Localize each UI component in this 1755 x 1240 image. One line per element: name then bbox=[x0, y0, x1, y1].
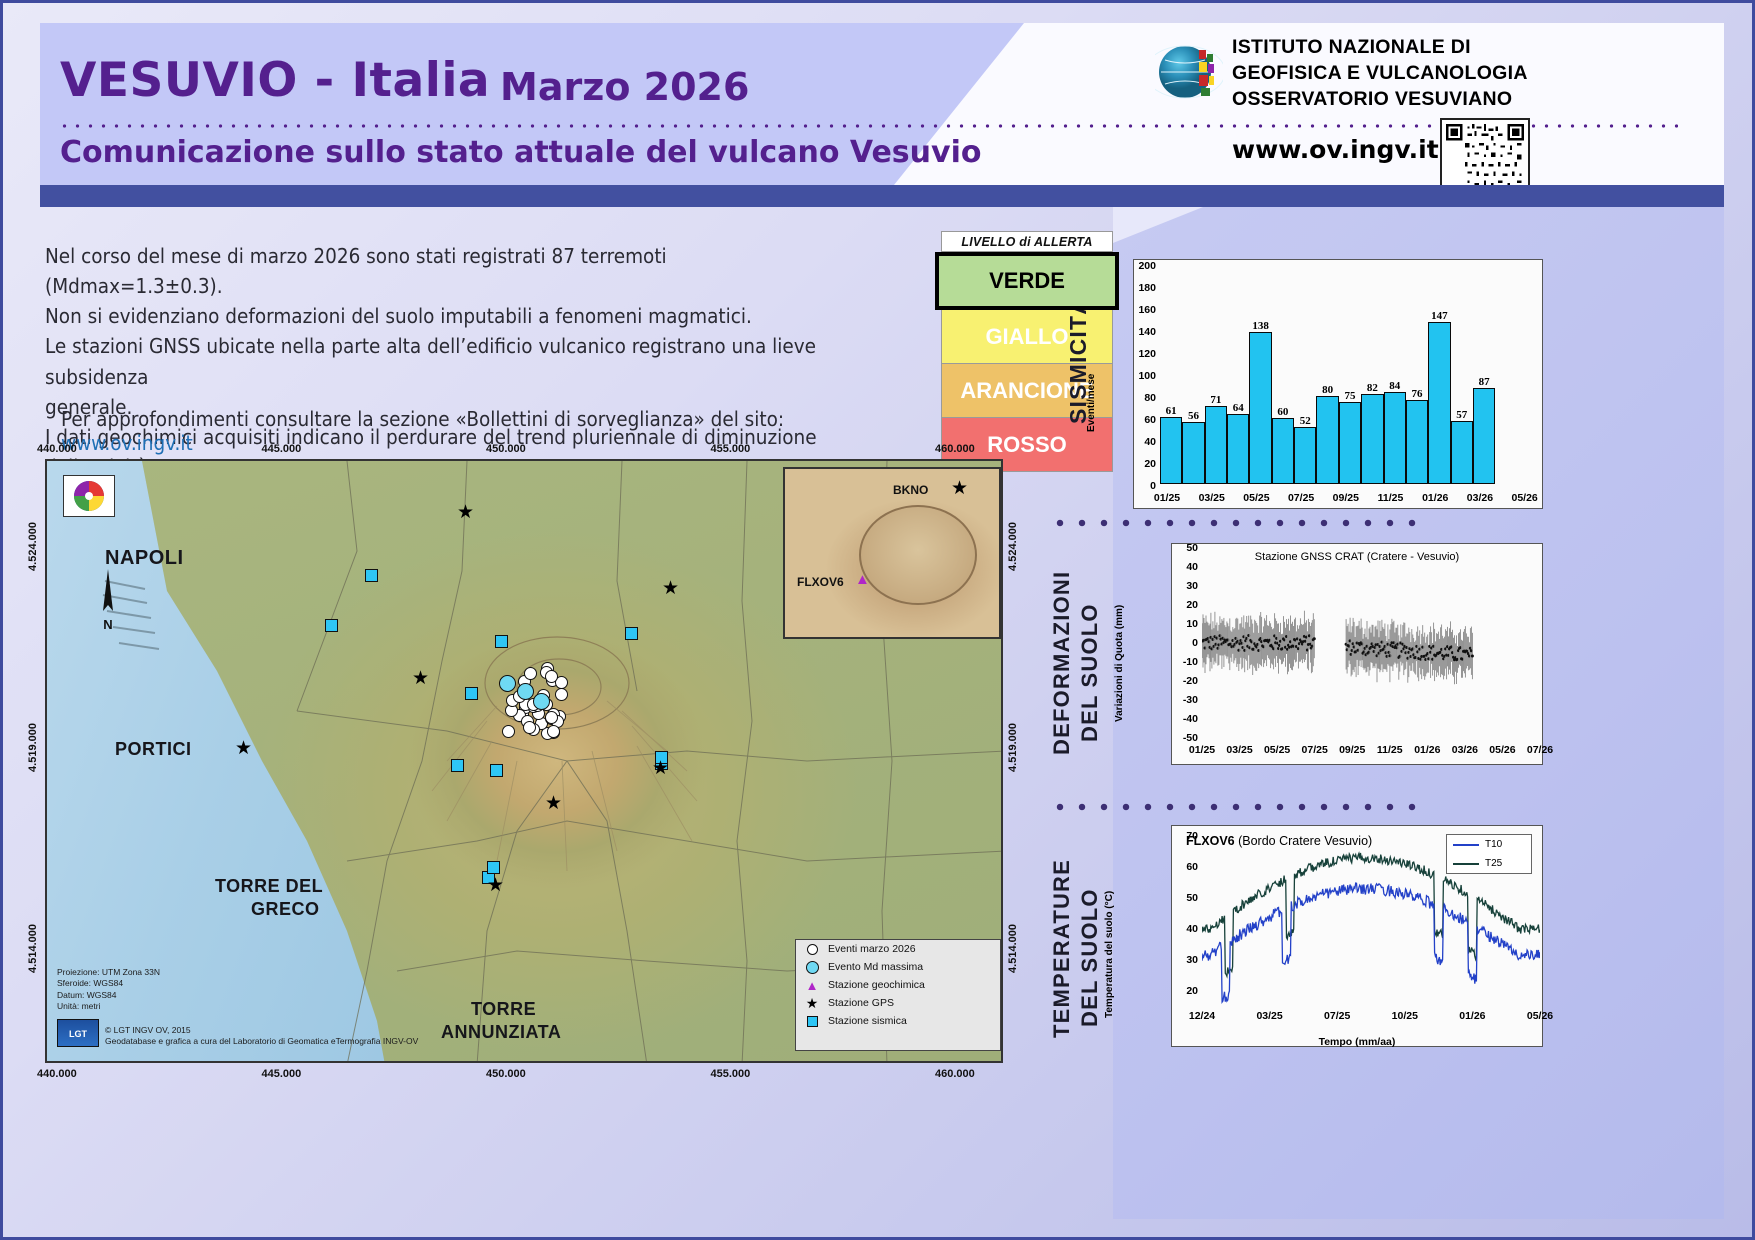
inset-label-flxov6: FLXOV6 bbox=[797, 575, 844, 589]
website-url[interactable]: www.ov.ingv.it bbox=[1232, 135, 1439, 164]
map-gps-station-icon: ★ bbox=[457, 503, 474, 522]
temperature-y-tick: 50 bbox=[1170, 892, 1198, 904]
square-cyan-icon bbox=[804, 1016, 820, 1027]
temperature-legend: T10T25 bbox=[1446, 834, 1532, 874]
seismicity-bar bbox=[1160, 417, 1182, 484]
institute-line-3: OSSERVATORIO VESUVIANO bbox=[1232, 87, 1528, 113]
seismicity-chart: Eventi/mese 200180160140120100806040200 … bbox=[1133, 259, 1543, 509]
panel-label-temperature-l2: DEL SUOLO bbox=[1077, 888, 1103, 1028]
temperature-chart: Temperatura del suolo (°C) FLXOV6 (Bordo… bbox=[1171, 825, 1543, 1047]
seismicity-bar bbox=[1316, 396, 1338, 484]
seismicity-bar bbox=[1339, 402, 1361, 485]
deformation-x-tick: 05/26 bbox=[1482, 744, 1522, 756]
temperature-x-tick: 01/26 bbox=[1452, 1010, 1492, 1022]
seismicity-x-tick: 05/25 bbox=[1233, 492, 1279, 504]
map-seismic-station-icon bbox=[495, 635, 508, 648]
map-gps-station-icon: ★ bbox=[487, 876, 504, 895]
temperature-x-tick: 05/26 bbox=[1520, 1010, 1560, 1022]
projection-line-4: Unità: metri bbox=[57, 1001, 160, 1012]
map-x-coordinate-bottom: 460.000 bbox=[935, 1068, 975, 1080]
deformation-x-tick: 07/25 bbox=[1295, 744, 1335, 756]
copyright-line-1: © LGT INGV OV, 2015 bbox=[105, 1025, 418, 1036]
map-label-torre-annunziata-1: TORRE bbox=[471, 999, 536, 1020]
alert-level-label: VERDE bbox=[989, 268, 1065, 293]
map-x-coordinate-top: 455.000 bbox=[711, 443, 751, 455]
seismicity-x-tick: 03/25 bbox=[1189, 492, 1235, 504]
header-accent-bar bbox=[40, 185, 1724, 207]
map-x-coordinate-top: 450.000 bbox=[486, 443, 526, 455]
map-earthquake-marker bbox=[555, 688, 568, 701]
map-x-coordinate-bottom: 450.000 bbox=[486, 1068, 526, 1080]
deformation-y-tick: -20 bbox=[1168, 675, 1198, 687]
deformation-y-tick: 20 bbox=[1168, 599, 1198, 611]
projection-line-1: Proiezione: UTM Zona 33N bbox=[57, 967, 160, 978]
deformation-x-tick: 11/25 bbox=[1370, 744, 1410, 756]
map-y-coordinate-right: 4.524.000 bbox=[1007, 522, 1019, 571]
deformation-plot-area bbox=[1202, 548, 1540, 738]
map-copyright: © LGT INGV OV, 2015 Geodatabase e grafic… bbox=[105, 1025, 418, 1048]
map-seismic-station-icon bbox=[451, 759, 464, 772]
circle-cyan-icon bbox=[804, 961, 820, 974]
map-y-coordinate-left: 4.519.000 bbox=[27, 723, 39, 772]
seismicity-bar bbox=[1384, 392, 1406, 484]
deformation-x-tick: 03/26 bbox=[1445, 744, 1485, 756]
seismicity-bar-value: 87 bbox=[1469, 376, 1499, 388]
seismicity-y-tick: 160 bbox=[1128, 304, 1156, 316]
temperature-legend-swatch bbox=[1453, 844, 1479, 846]
map-earthquake-marker bbox=[545, 670, 558, 683]
seismicity-y-tick: 140 bbox=[1128, 326, 1156, 338]
map-earthquake-marker bbox=[547, 725, 560, 738]
map-legend-label: Evento Md massima bbox=[828, 961, 923, 973]
header-dotted-divider bbox=[58, 123, 1678, 129]
intro-line-2: Non si evidenziano deformazioni del suol… bbox=[45, 301, 845, 331]
map-x-coordinate-top: 460.000 bbox=[935, 443, 975, 455]
compass-rose-icon bbox=[63, 475, 115, 517]
map-gps-station-icon: ★ bbox=[545, 794, 562, 813]
seismicity-bar-value: 138 bbox=[1245, 320, 1275, 332]
institute-name: ISTITUTO NAZIONALE DI GEOFISICA E VULCAN… bbox=[1232, 35, 1528, 113]
panel-label-deformation-l1: DEFORMAZIONI bbox=[1049, 563, 1075, 763]
alert-level-verde: VERDE bbox=[935, 252, 1119, 310]
deformation-chart: Variazioni di Quota (mm) Stazione GNSS C… bbox=[1171, 543, 1543, 765]
panel-divider-1 bbox=[1049, 519, 1421, 527]
map-projection-info: Proiezione: UTM Zona 33N Sferoide: WGS84… bbox=[57, 967, 160, 1013]
seismicity-x-tick: 01/26 bbox=[1412, 492, 1458, 504]
map-max-magnitude-marker bbox=[517, 683, 534, 700]
deformation-y-tick: 0 bbox=[1168, 637, 1198, 649]
svg-text:N: N bbox=[103, 617, 112, 632]
map-label-torre-annunziata-2: ANNUNZIATA bbox=[441, 1022, 561, 1043]
seismicity-bar bbox=[1451, 421, 1473, 484]
alert-level-title: LIVELLO di ALLERTA bbox=[941, 231, 1113, 252]
temperature-y-axis-label: Temperatura del suolo (°C) bbox=[1104, 848, 1115, 1018]
seismicity-x-tick: 07/25 bbox=[1278, 492, 1324, 504]
map-y-coordinate-left: 4.524.000 bbox=[27, 522, 39, 571]
temperature-legend-item: T25 bbox=[1447, 854, 1531, 873]
crater-rim-outline bbox=[859, 505, 977, 605]
map-earthquake-marker bbox=[524, 667, 537, 680]
temperature-y-tick: 20 bbox=[1170, 985, 1198, 997]
map-gps-station-icon: ★ bbox=[652, 759, 669, 778]
map-gps-station-icon: ★ bbox=[235, 739, 252, 758]
temperature-legend-label: T10 bbox=[1485, 839, 1502, 850]
temperature-y-tick: 40 bbox=[1170, 923, 1198, 935]
page-title: VESUVIO - Italia bbox=[60, 53, 490, 108]
projection-line-2: Sferoide: WGS84 bbox=[57, 978, 160, 989]
seismicity-bar bbox=[1182, 422, 1204, 484]
triangle-magenta-icon: ▲ bbox=[804, 979, 820, 992]
deformation-x-tick: 09/25 bbox=[1332, 744, 1372, 756]
page-title-month: Marzo 2026 bbox=[500, 65, 749, 109]
panel-divider-2 bbox=[1049, 803, 1421, 811]
seismicity-x-tick: 11/25 bbox=[1368, 492, 1414, 504]
seismicity-bar bbox=[1428, 322, 1450, 484]
institute-line-2: GEOFISICA E VULCANOLOGIA bbox=[1232, 61, 1528, 87]
lgt-logo: LGT bbox=[57, 1019, 99, 1047]
deformation-y-tick: 50 bbox=[1168, 542, 1198, 554]
seismicity-bar bbox=[1294, 427, 1316, 484]
poster-root: VESUVIO - Italia Marzo 2026 Comunicazion… bbox=[0, 0, 1755, 1240]
map-seismic-station-icon bbox=[487, 861, 500, 874]
alert-level-label: ROSSO bbox=[987, 432, 1066, 457]
seismicity-y-tick: 200 bbox=[1128, 260, 1156, 272]
seismicity-y-axis-label: Eventi/mese bbox=[1086, 322, 1097, 432]
map-legend-label: Eventi marzo 2026 bbox=[828, 943, 916, 955]
map-seismic-station-icon bbox=[365, 569, 378, 582]
deformation-x-tick: 07/26 bbox=[1520, 744, 1560, 756]
map-gps-station-icon: ★ bbox=[412, 669, 429, 688]
deformation-y-tick: -50 bbox=[1168, 732, 1198, 744]
intro-line-1: Nel corso del mese di marzo 2026 sono st… bbox=[45, 241, 845, 301]
map-y-coordinate-right: 4.519.000 bbox=[1007, 723, 1019, 772]
page-subtitle: Comunicazione sullo stato attuale del vu… bbox=[60, 135, 981, 170]
temperature-x-tick: 10/25 bbox=[1385, 1010, 1425, 1022]
seismicity-y-tick: 180 bbox=[1128, 282, 1156, 294]
intro-line-3: Le stazioni GNSS ubicate nella parte alt… bbox=[45, 331, 845, 391]
seismicity-y-tick: 40 bbox=[1128, 436, 1156, 448]
north-arrow-icon: N bbox=[95, 567, 121, 637]
seismicity-plot-area: 61567164138605280758284761475787 bbox=[1160, 266, 1538, 484]
inset-gps-station-bkno-icon: ★ bbox=[951, 479, 968, 498]
temperature-x-axis-label: Tempo (mm/aa) bbox=[1172, 1036, 1542, 1048]
map-seismic-station-icon bbox=[465, 687, 478, 700]
header: VESUVIO - Italia Marzo 2026 Comunicazion… bbox=[40, 23, 1724, 185]
seismicity-bar bbox=[1205, 406, 1227, 484]
map-x-coordinate-bottom: 455.000 bbox=[711, 1068, 751, 1080]
temperature-y-tick: 30 bbox=[1170, 954, 1198, 966]
temperature-legend-item: T10 bbox=[1447, 835, 1531, 854]
crater-inset-map: BKNO ★ FLXOV6 ▲ bbox=[783, 467, 1001, 639]
map-label-torre-del-greco-2: GRECO bbox=[251, 899, 320, 920]
circle-white-icon bbox=[804, 944, 820, 955]
temperature-legend-label: T25 bbox=[1485, 858, 1502, 869]
map-label-portici: PORTICI bbox=[115, 739, 192, 760]
temperature-x-tick: 07/25 bbox=[1317, 1010, 1357, 1022]
seismicity-x-tick: 05/26 bbox=[1502, 492, 1548, 504]
map-earthquake-marker bbox=[502, 725, 515, 738]
map-legend: Eventi marzo 2026Evento Md massima▲Stazi… bbox=[795, 939, 1001, 1051]
map-earthquake-marker bbox=[523, 721, 536, 734]
map-legend-row: Stazione sismica bbox=[796, 1012, 1000, 1030]
temperature-x-tick: 12/24 bbox=[1182, 1010, 1222, 1022]
panel-label-deformation-l2: DEL SUOLO bbox=[1077, 603, 1103, 743]
seismicity-y-tick: 80 bbox=[1128, 392, 1156, 404]
deformation-x-tick: 05/25 bbox=[1257, 744, 1297, 756]
map-earthquake-marker bbox=[545, 711, 558, 724]
map-x-coordinate-top: 440.000 bbox=[37, 443, 77, 455]
map-y-coordinate-right: 4.514.000 bbox=[1007, 924, 1019, 973]
map-label-napoli: NAPOLI bbox=[105, 547, 184, 570]
map-legend-row: Eventi marzo 2026 bbox=[796, 940, 1000, 958]
map-legend-label: Stazione geochimica bbox=[828, 979, 925, 991]
deformation-y-tick: 40 bbox=[1168, 561, 1198, 573]
star-black-icon: ★ bbox=[804, 996, 820, 1010]
seismicity-bar bbox=[1406, 400, 1428, 484]
projection-line-3: Datum: WGS84 bbox=[57, 990, 160, 1001]
ingv-globe-icon bbox=[1155, 38, 1223, 106]
map-seismic-station-icon bbox=[325, 619, 338, 632]
seismicity-x-tick: 09/25 bbox=[1323, 492, 1369, 504]
further-info-text: Per approfondimenti consultare la sezion… bbox=[61, 407, 784, 431]
temperature-legend-swatch bbox=[1453, 863, 1479, 865]
deformation-y-tick: 30 bbox=[1168, 580, 1198, 592]
map-max-magnitude-marker bbox=[499, 675, 516, 692]
map-gps-station-icon: ★ bbox=[662, 579, 679, 598]
map-y-coordinate-left: 4.514.000 bbox=[27, 924, 39, 973]
map-legend-label: Stazione sismica bbox=[828, 1015, 907, 1027]
temperature-y-tick: 70 bbox=[1170, 830, 1198, 842]
deformation-y-tick: -40 bbox=[1168, 713, 1198, 725]
alert-level-label: GIALLO bbox=[985, 324, 1068, 349]
temperature-y-tick: 60 bbox=[1170, 861, 1198, 873]
map-x-coordinate-bottom: 440.000 bbox=[37, 1068, 77, 1080]
hazard-map[interactable]: N NAPOLI PORTICI TORRE DEL GRECO TORRE A… bbox=[45, 459, 1003, 1063]
seismicity-y-tick: 0 bbox=[1128, 480, 1156, 492]
map-x-coordinate-top: 445.000 bbox=[262, 443, 302, 455]
inset-geochem-station-icon: ▲ bbox=[855, 571, 870, 588]
further-info-link[interactable]: www.ov.ingv.it bbox=[61, 431, 193, 455]
map-legend-label: Stazione GPS bbox=[828, 997, 894, 1009]
institute-line-1: ISTITUTO NAZIONALE DI bbox=[1232, 35, 1528, 61]
map-seismic-station-icon bbox=[490, 764, 503, 777]
deformation-y-axis-label: Variazioni di Quota (mm) bbox=[1114, 572, 1125, 722]
temperature-x-tick: 03/25 bbox=[1250, 1010, 1290, 1022]
deformation-y-tick: 10 bbox=[1168, 618, 1198, 630]
map-legend-row: ★Stazione GPS bbox=[796, 994, 1000, 1012]
deformation-x-tick: 03/25 bbox=[1220, 744, 1260, 756]
seismicity-y-tick: 60 bbox=[1128, 414, 1156, 426]
map-seismic-station-icon bbox=[625, 627, 638, 640]
seismicity-bar bbox=[1227, 414, 1249, 484]
seismicity-x-tick: 01/25 bbox=[1144, 492, 1190, 504]
map-max-magnitude-marker bbox=[533, 693, 550, 710]
seismicity-bar-value: 147 bbox=[1424, 310, 1454, 322]
seismicity-y-tick: 120 bbox=[1128, 348, 1156, 360]
deformation-y-tick: -10 bbox=[1168, 656, 1198, 668]
inset-label-bkno: BKNO bbox=[893, 483, 928, 497]
seismicity-x-tick: 03/26 bbox=[1457, 492, 1503, 504]
map-label-torre-del-greco-1: TORRE DEL bbox=[215, 876, 323, 897]
map-legend-row: Evento Md massima bbox=[796, 958, 1000, 976]
seismicity-bar bbox=[1361, 394, 1383, 484]
map-x-coordinate-bottom: 445.000 bbox=[262, 1068, 302, 1080]
map-legend-row: ▲Stazione geochimica bbox=[796, 976, 1000, 994]
panel-label-temperature-l1: TEMPERATURE bbox=[1049, 848, 1075, 1048]
seismicity-bar bbox=[1272, 418, 1294, 484]
deformation-y-tick: -30 bbox=[1168, 694, 1198, 706]
copyright-line-2: Geodatabase e grafica a cura del Laborat… bbox=[105, 1036, 418, 1047]
seismicity-y-tick: 100 bbox=[1128, 370, 1156, 382]
deformation-x-tick: 01/26 bbox=[1407, 744, 1447, 756]
seismicity-bar bbox=[1473, 388, 1495, 484]
seismicity-y-tick: 20 bbox=[1128, 458, 1156, 470]
deformation-x-tick: 01/25 bbox=[1182, 744, 1222, 756]
